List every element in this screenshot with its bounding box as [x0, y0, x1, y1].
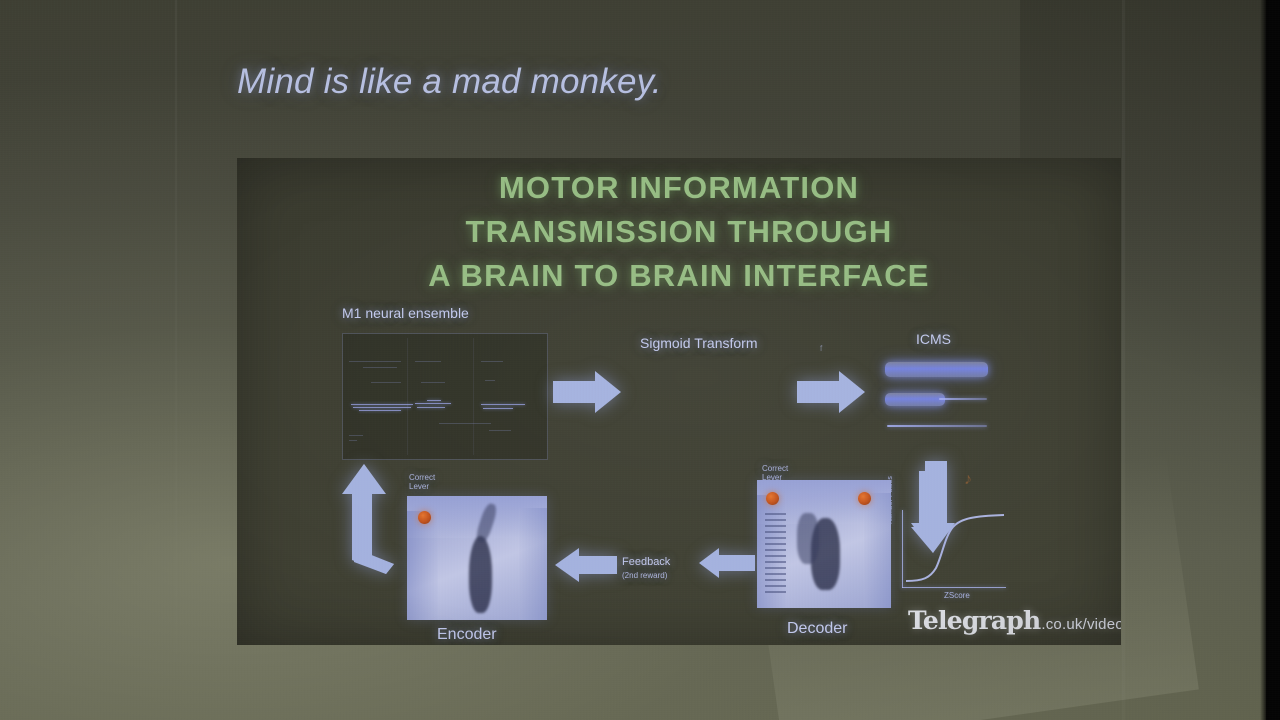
sigmoid-x-axis-label: ZScore — [944, 591, 970, 600]
decoder-correct-lever-dot-left — [766, 492, 779, 505]
encoder-caption: Encoder — [437, 626, 497, 644]
icms-pulse-tail-2 — [939, 398, 987, 400]
wall-seam-left — [175, 0, 177, 720]
icms-pulse-bar-2 — [885, 393, 945, 406]
decoder-monkey-arm — [797, 513, 818, 564]
video-title-line-3: A BRAIN TO BRAIN INTERFACE — [237, 254, 1121, 298]
telegraph-url-suffix: .co.uk/video — [1041, 616, 1121, 633]
encoder-overlay-line-2: Lever — [409, 482, 429, 491]
encoder-cage-wall-left — [407, 511, 438, 620]
decoder-video-thumbnail[interactable] — [757, 480, 891, 608]
icms-label: ICMS — [916, 331, 951, 347]
video-title: MOTOR INFORMATION TRANSMISSION THROUGH A… — [237, 166, 1121, 298]
icms-pulse-bar-1 — [885, 362, 988, 377]
decoder-cage-wall-right — [864, 493, 891, 608]
icms-pulse-bar-3 — [887, 425, 987, 427]
feedback-sublabel: (2nd reward) — [622, 571, 667, 580]
sigmoid-decoration-glyph: f — [820, 344, 822, 353]
arrow-sigmoid-to-icms — [797, 371, 865, 413]
decoder-overlay-line-1: Correct — [762, 464, 788, 473]
encoder-correct-lever-dot — [418, 511, 431, 524]
decoder-caption: Decoder — [787, 620, 847, 638]
m1-raster-column — [345, 338, 408, 455]
telegraph-watermark: Telegraph.co.uk/video — [908, 606, 1121, 635]
video-title-line-1: MOTOR INFORMATION — [237, 166, 1121, 210]
video-title-line-2: TRANSMISSION THROUGH — [237, 210, 1121, 254]
telegraph-wordmark: Telegraph — [908, 606, 1040, 635]
video-artifact-glyph: ♪ — [964, 471, 972, 489]
m1-raster-column — [477, 338, 539, 455]
encoder-video-thumbnail[interactable] — [407, 496, 547, 620]
decoder-correct-lever-dot-right — [858, 492, 871, 505]
encoder-overlay-line-1: Correct — [409, 473, 435, 482]
arrow-feedback-to-encoder — [555, 548, 617, 582]
slide-headline: Mind is like a mad monkey. — [237, 62, 662, 102]
presentation-photo: Mind is like a mad monkey. MOTOR INFORMA… — [0, 0, 1280, 720]
encoder-cage-wall-right — [519, 508, 547, 620]
feedback-label: Feedback — [622, 556, 670, 568]
m1-raster-column — [411, 338, 474, 455]
decoder-cage-bars — [765, 513, 786, 592]
embedded-video-panel[interactable]: MOTOR INFORMATION TRANSMISSION THROUGH A… — [237, 158, 1121, 645]
encoder-overlay-text: Correct Lever — [409, 473, 435, 491]
m1-raster-box — [342, 333, 548, 460]
sigmoid-transform-label: Sigmoid Transform — [640, 335, 757, 351]
right-letterbox-bar — [1266, 0, 1280, 720]
encoder-monkey-silhouette — [469, 536, 493, 613]
arrow-encoder-to-m1 — [342, 464, 394, 574]
arrow-m1-to-sigmoid — [553, 371, 621, 413]
m1-neural-ensemble-label: M1 neural ensemble — [342, 305, 469, 321]
arrow-decoder-to-feedback — [699, 548, 755, 578]
arrow-icms-to-decoder — [903, 461, 955, 561]
